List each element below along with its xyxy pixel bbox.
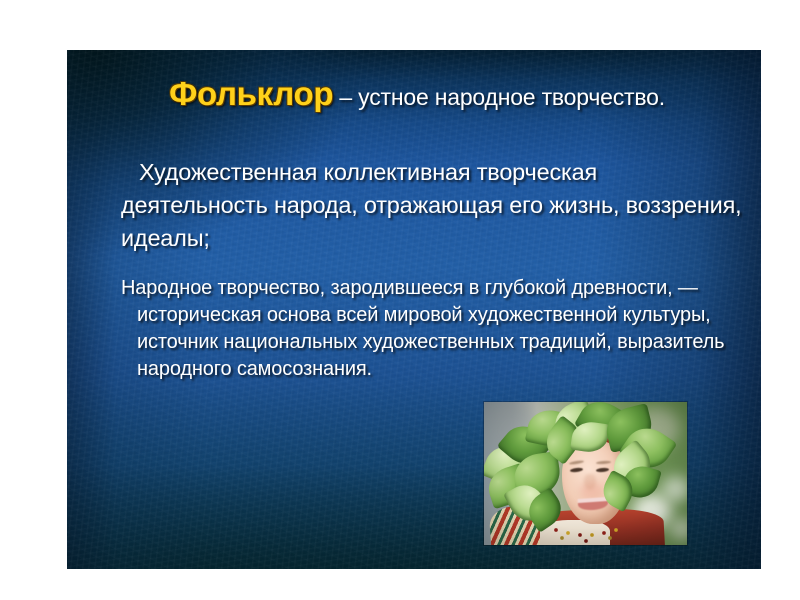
photo-nose bbox=[584, 474, 596, 490]
photo-background-blob bbox=[670, 518, 687, 540]
body-paragraph-2: Народное творчество, зародившееся в глуб… bbox=[113, 275, 743, 383]
presentation-page: Фольклор – устное народное творчество. Х… bbox=[0, 0, 800, 600]
folk-costume-photo bbox=[484, 402, 687, 545]
photo-background-blob bbox=[662, 476, 687, 502]
slide-canvas: Фольклор – устное народное творчество. Х… bbox=[67, 50, 761, 569]
photo-bead-necklace bbox=[548, 522, 624, 545]
body-paragraph-1: Художественная коллективная творческая д… bbox=[113, 156, 743, 255]
title-subtitle: – устное народное творчество. bbox=[333, 84, 665, 110]
slide-title: Фольклор – устное народное творчество. bbox=[107, 75, 727, 113]
title-keyword: Фольклор bbox=[169, 75, 333, 112]
photo-image bbox=[484, 402, 687, 545]
slide-body: Художественная коллективная творческая д… bbox=[113, 132, 743, 403]
